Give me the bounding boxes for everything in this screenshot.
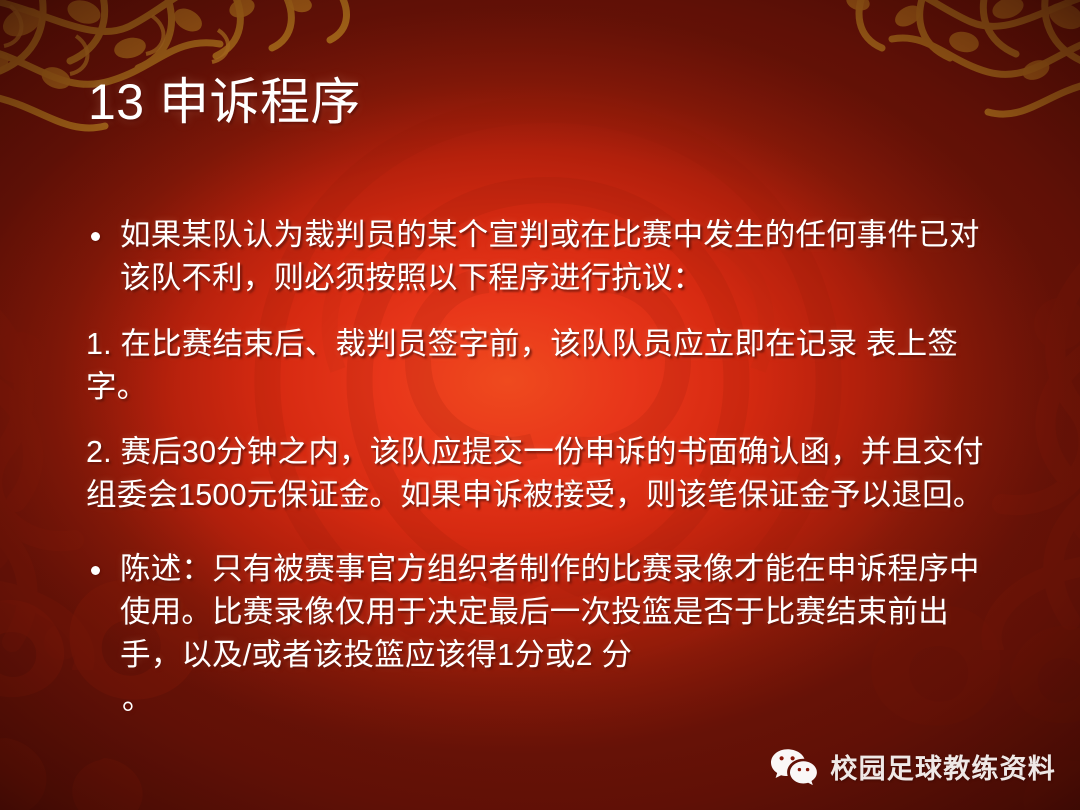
paragraph-text: 2. 赛后30分钟之内，该队应提交一份申诉的书面确认函，并且交付组委会1500元… [86, 435, 984, 512]
spacer [84, 409, 996, 431]
bullet-dot-icon [91, 232, 100, 241]
bullet-dot-icon [91, 566, 100, 575]
top-right-floral-decoration [806, 0, 1080, 159]
paragraph-text: 1. 在比赛结束后、裁判员签字前，该队队员应立即在记录 表上签字。 [86, 327, 958, 404]
spacer [84, 518, 996, 548]
wechat-icon [770, 748, 818, 786]
paragraph-text: 陈述：只有被赛事官方组织者制作的比赛录像才能在申诉程序中使用。比赛录像仅用于决定… [120, 552, 980, 673]
paragraph-text: 如果某队认为裁判员的某个宣判或在比赛中发生的任何事件已对该队不利，则必须按照以下… [120, 218, 980, 295]
bullet-paragraph-intro: 如果某队认为裁判员的某个宣判或在比赛中发生的任何事件已对该队不利，则必须按照以下… [84, 214, 996, 301]
watermark-label: 校园足球教练资料 [830, 747, 1056, 786]
numbered-paragraph-step-1: 1. 在比赛结束后、裁判员签字前，该队队员应立即在记录 表上签字。 [84, 323, 996, 410]
watermark: 校园足球教练资料 [770, 747, 1056, 786]
page-title: 13 申诉程序 [88, 74, 361, 130]
slide-canvas: 13 申诉程序 如果某队认为裁判员的某个宣判或在比赛中发生的任何事件已对该队不利… [0, 0, 1080, 810]
trailing-period: 。 [84, 678, 996, 721]
numbered-paragraph-step-2: 2. 赛后30分钟之内，该队应提交一份申诉的书面确认函，并且交付组委会1500元… [84, 431, 996, 518]
bullet-paragraph-statement: 陈述：只有被赛事官方组织者制作的比赛录像才能在申诉程序中使用。比赛录像仅用于决定… [84, 548, 996, 678]
slide-body: 如果某队认为裁判员的某个宣判或在比赛中发生的任何事件已对该队不利，则必须按照以下… [84, 214, 996, 721]
spacer [84, 301, 996, 323]
